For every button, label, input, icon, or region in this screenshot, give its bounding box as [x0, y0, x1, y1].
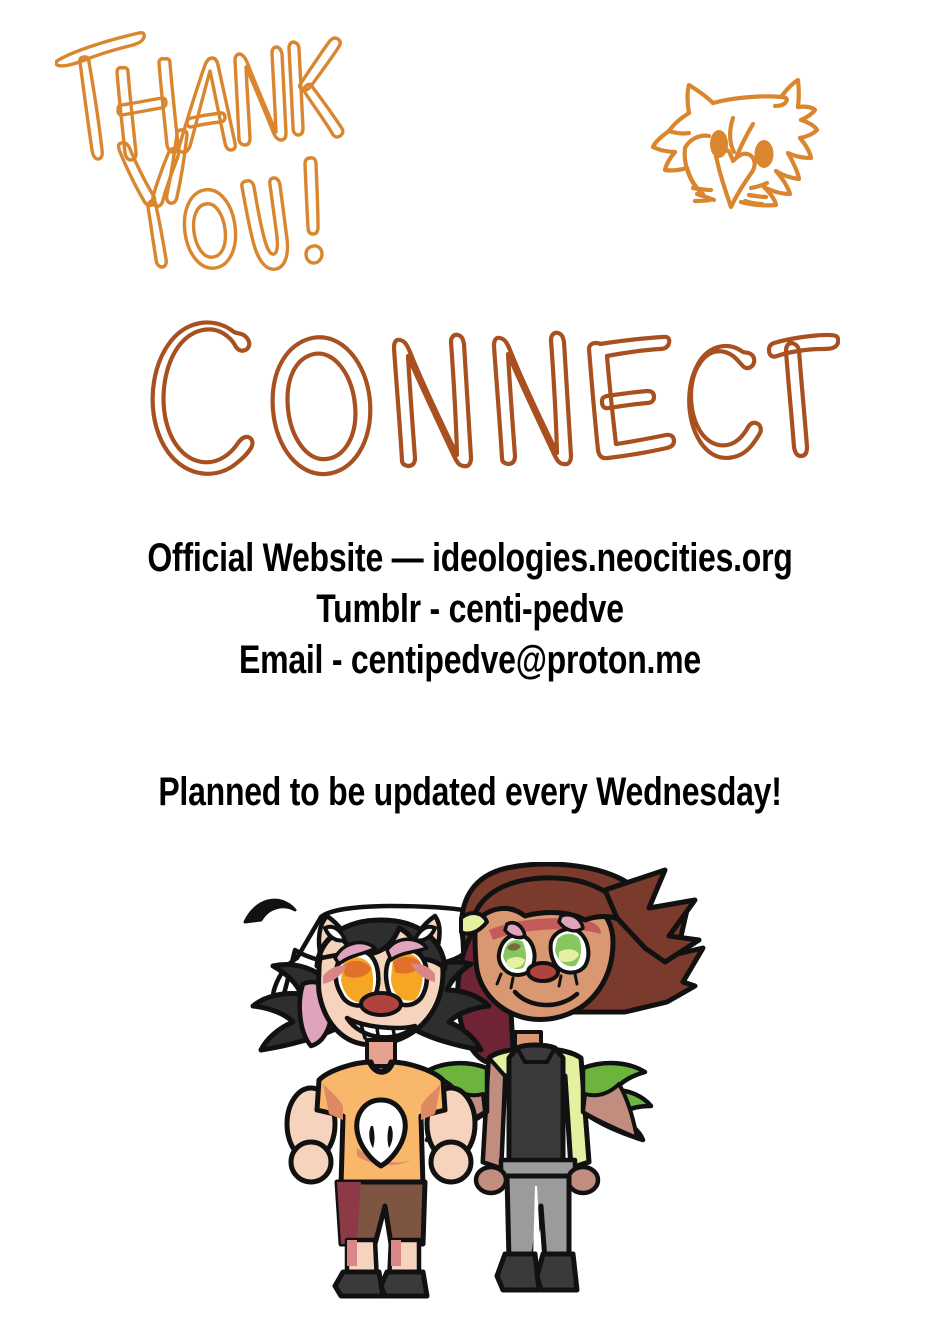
poster-page: Thank You!	[0, 0, 940, 1330]
schedule-line: Planned to be updated every Wednesday!	[94, 766, 846, 818]
connect-heading: CONNECT	[130, 300, 840, 485]
thank-you-heading: Thank You!	[55, 15, 385, 290]
cat-head-with-heart-icon	[645, 70, 860, 230]
right-character	[417, 864, 703, 1290]
contact-info-block: Official Website — ideologies.neocities.…	[0, 533, 940, 686]
right-bat-wing	[583, 1063, 651, 1140]
two-characters-illustration	[225, 862, 715, 1330]
contact-line-tumblr: Tumblr - centi-pedve	[94, 584, 846, 635]
update-schedule-block: Planned to be updated every Wednesday!	[0, 766, 940, 818]
contact-line-email: Email - centipedve@proton.me	[94, 635, 846, 686]
left-character	[253, 916, 489, 1296]
contact-line-website: Official Website — ideologies.neocities.…	[94, 533, 846, 584]
